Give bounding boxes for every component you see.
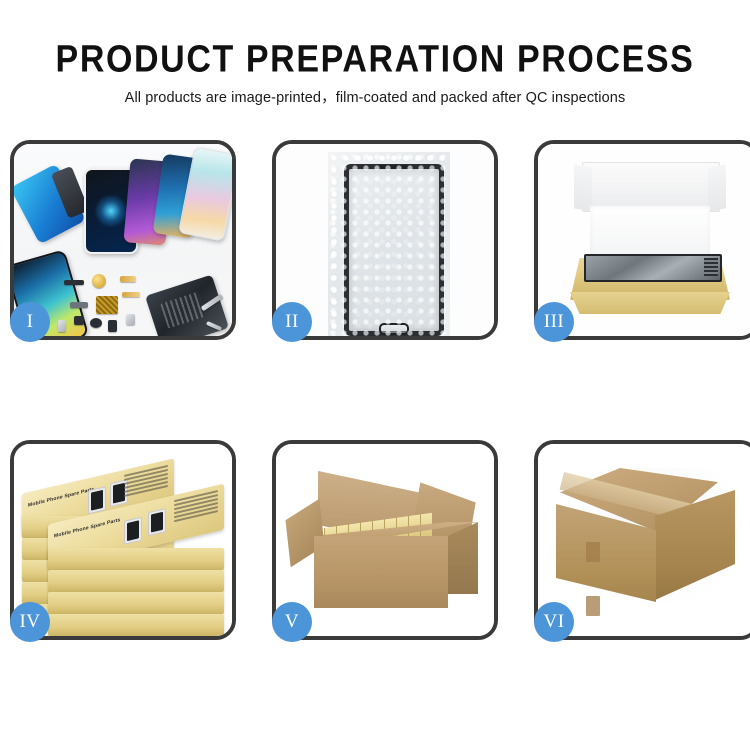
step-4-image: Mobile Phone Spare Parts: [14, 444, 232, 636]
step-badge-4: IV: [10, 602, 50, 642]
process-step-grid: I II: [0, 140, 750, 700]
box-lid-left-flap: [574, 164, 592, 211]
step-5-image: [276, 444, 494, 636]
bubble-wrap-sheet: [328, 152, 450, 336]
phone-thumbnail-4: [148, 508, 166, 536]
carton-seam-tab-lower: [586, 596, 600, 616]
process-step-5: V: [272, 440, 498, 640]
box-front-edge: [570, 292, 730, 314]
step-2-image: [276, 144, 494, 336]
process-step-6: VI: [534, 440, 750, 640]
step-badge-2: II: [272, 302, 312, 342]
process-step-3: III: [534, 140, 750, 340]
sim-tray-icon: [58, 320, 66, 332]
step-badge-5: V: [272, 602, 312, 642]
open-shipping-carton: [288, 466, 484, 624]
retail-box-stack: Mobile Phone Spare Parts: [18, 454, 232, 636]
page-title: PRODUCT PREPARATION PROCESS: [0, 0, 750, 80]
button-part-icon: [74, 316, 84, 325]
retail-box-front-4: [48, 614, 224, 636]
retail-box-front-3: [48, 592, 224, 614]
step-badge-6: VI: [534, 602, 574, 642]
retail-box-front-2: [48, 570, 224, 592]
carton-seam-tab-upper: [586, 542, 600, 562]
box-lid-back-panel: [582, 162, 720, 212]
connector-part-icon: [64, 280, 84, 285]
retail-box-front-1: [48, 548, 224, 570]
bracket-part-icon: [70, 302, 88, 308]
product-preparation-process-page: PRODUCT PREPARATION PROCESS All products…: [0, 0, 750, 750]
bubble-texture-overlay: [328, 152, 450, 336]
packed-screen-part: [584, 254, 722, 282]
process-step-1: I: [10, 140, 236, 340]
process-step-4: Mobile Phone Spare Parts: [10, 440, 236, 640]
step-1-image: [14, 144, 232, 336]
step-3-image: [538, 144, 750, 336]
step-badge-3: III: [534, 302, 574, 342]
mesh-grille-icon: [96, 296, 118, 314]
flex-cable-2-icon: [122, 292, 140, 297]
retail-box-label-back: Mobile Phone Spare Parts: [28, 486, 95, 508]
sealed-shipping-carton: [556, 468, 742, 618]
retail-box-checklist-back: [124, 465, 168, 499]
step-badge-1: I: [10, 302, 50, 342]
phone-thumbnail-3: [124, 517, 142, 545]
retail-box-checklist-front: [174, 490, 218, 524]
box-lid-right-flap: [708, 164, 726, 211]
carton-front-face: [314, 536, 448, 608]
flex-cable-icon: [120, 276, 136, 282]
open-kraft-box: [566, 162, 734, 330]
phone-thumbnail-1: [88, 486, 106, 514]
small-part-icon: [126, 314, 135, 325]
camera-part-icon: [108, 320, 117, 332]
vibrator-part-icon: [90, 318, 102, 328]
step-6-image: [538, 444, 750, 636]
header: PRODUCT PREPARATION PROCESS All products…: [0, 0, 750, 107]
process-step-2: II: [272, 140, 498, 340]
retail-box-label-front: Mobile Phone Spare Parts: [54, 517, 121, 539]
speaker-part-icon: [92, 274, 106, 288]
